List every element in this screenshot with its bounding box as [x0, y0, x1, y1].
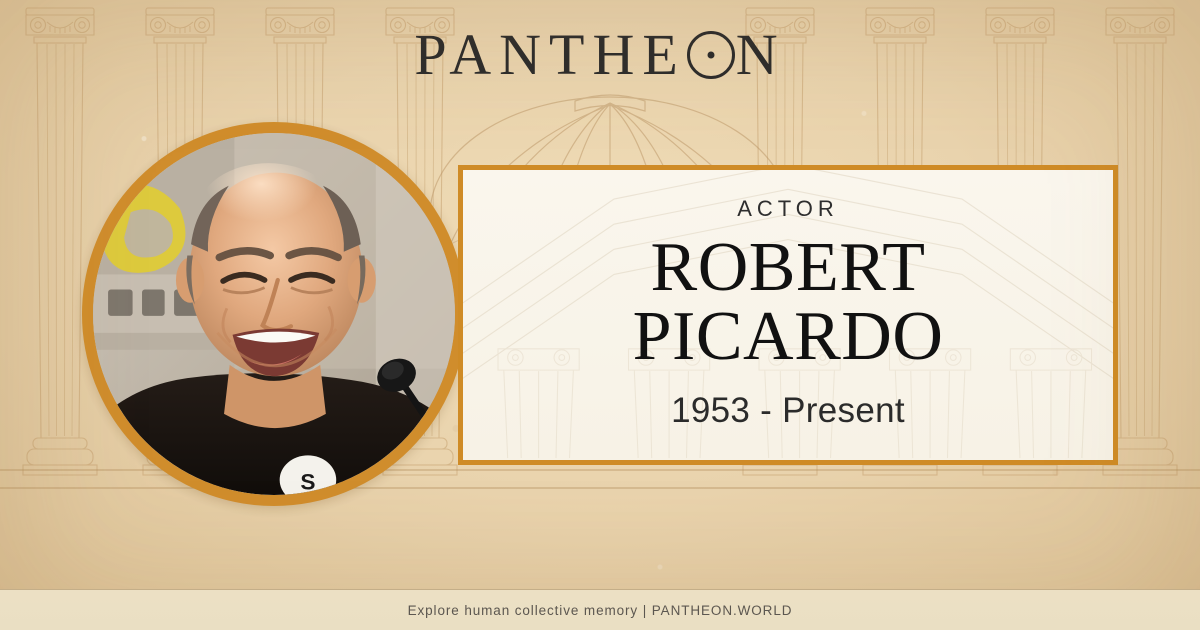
person-name: ROBERT PICARDO [463, 234, 1113, 371]
brand-name-part1: PANTHE [414, 26, 685, 84]
pantheon-dome-icon [686, 26, 736, 84]
svg-text:S: S [300, 469, 315, 494]
person-name-line2: PICARDO [463, 303, 1113, 372]
avatar: S [82, 122, 466, 506]
social-card-stage: PANTHE N [0, 0, 1200, 630]
portrait-photo: S [93, 133, 455, 495]
footer: Explore human collective memory | PANTHE… [0, 589, 1200, 630]
lifespan-label: 1953 - Present [463, 391, 1113, 431]
occupation-label: ACTOR [463, 196, 1113, 222]
brand-name-part2: N [736, 26, 786, 84]
person-info-card: ACTOR ROBERT PICARDO 1953 - Present [458, 165, 1118, 465]
person-name-line1: ROBERT [463, 234, 1113, 303]
page-title: PANTHE N [0, 26, 1200, 84]
footer-text: Explore human collective memory | PANTHE… [408, 603, 793, 618]
